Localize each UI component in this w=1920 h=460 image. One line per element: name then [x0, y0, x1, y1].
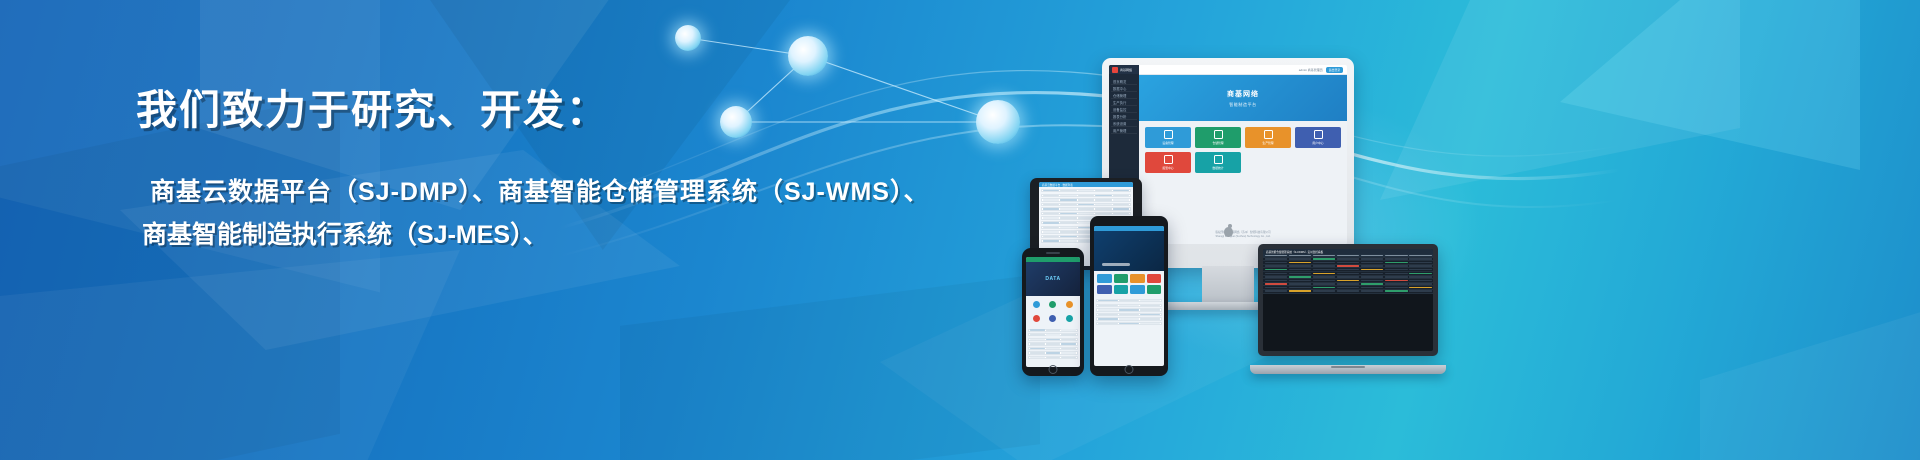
laptop-mockup: 商基智能仓储管理系统（SJ-WMS）· 实时监控看板: [1250, 244, 1446, 374]
tablet-portrait-list: [1094, 297, 1164, 327]
edit-icon: [1214, 155, 1223, 164]
logout-button[interactable]: 退出登录: [1326, 67, 1343, 73]
imac-logo: 商基网络: [1109, 65, 1139, 74]
list-item[interactable]: [1096, 313, 1162, 316]
imac-tile[interactable]: 用户中心: [1295, 127, 1341, 148]
imac-tile[interactable]: 生产管理: [1245, 127, 1291, 148]
sidebar-item-3[interactable]: 生产执行: [1111, 99, 1137, 106]
laptop-title: 商基智能仓储管理系统（SJ-WMS）· 实时监控看板: [1266, 250, 1323, 254]
imac-tile-grid: 设备管理 仓储管理 生产管理: [1139, 121, 1347, 179]
list-item[interactable]: [1028, 347, 1078, 350]
product-line-2: 商基智能制造执行系统（SJ-MES）、: [136, 214, 956, 257]
imac-tile-label: 仓储管理: [1212, 141, 1223, 145]
tablet-portrait-screen: [1094, 226, 1164, 366]
phone-hero-label: DATA: [1045, 276, 1060, 282]
laptop-table: [1263, 254, 1433, 351]
apple-logo-icon: [1224, 227, 1233, 237]
sidebar-item-0[interactable]: 首页概览: [1111, 78, 1137, 85]
phone-tile[interactable]: [1046, 313, 1060, 324]
user-icon: [1314, 130, 1323, 139]
phone-list: [1026, 327, 1080, 362]
table-row[interactable]: [1041, 203, 1131, 206]
tablet-tile[interactable]: [1114, 274, 1129, 283]
brand-name: 商基网络: [1120, 68, 1132, 72]
imac-tile[interactable]: 仓储管理: [1195, 127, 1241, 148]
page-title: 我们致力于研究、开发：: [136, 86, 956, 135]
tablet-tile[interactable]: [1114, 285, 1129, 294]
background-facet: [620, 274, 1040, 460]
list-item[interactable]: [1096, 299, 1162, 302]
account-label: admin 商基管理员: [1299, 68, 1323, 72]
sidebar-item-2[interactable]: 仓储管理: [1111, 92, 1137, 99]
imac-hero-title: 商基网络: [1227, 89, 1259, 99]
tablet-tile[interactable]: [1147, 274, 1162, 283]
imac-tile-label: 设备管理: [1162, 141, 1173, 145]
sidebar-item-5[interactable]: 报表分析: [1111, 113, 1137, 120]
laptop-base: [1250, 365, 1446, 374]
brand-mark-icon: [1112, 67, 1118, 73]
imac-tile[interactable]: 数据统计: [1195, 152, 1241, 173]
product-list: 商基云数据平台（SJ-DMP）、商基智能仓储管理系统（SJ-WMS）、 商基智能…: [136, 171, 956, 257]
tablet-tile[interactable]: [1130, 274, 1145, 283]
tablet-tile[interactable]: [1147, 285, 1162, 294]
monitor-icon: [1164, 130, 1173, 139]
hero-banner: 我们致力于研究、开发： 商基云数据平台（SJ-DMP）、商基智能仓储管理系统（S…: [0, 0, 1920, 460]
imac-hero: 商基网络 智能制造平台: [1139, 75, 1347, 121]
tablet-portrait-mockup: [1090, 216, 1168, 376]
list-item[interactable]: [1096, 317, 1162, 320]
hero-copy: 我们致力于研究、开发： 商基云数据平台（SJ-DMP）、商基智能仓储管理系统（S…: [136, 86, 956, 257]
phone-tile[interactable]: [1029, 299, 1043, 310]
tablet-tile[interactable]: [1097, 285, 1112, 294]
tablet-portrait-hero: [1094, 231, 1164, 271]
imac-tile[interactable]: 报警中心: [1145, 152, 1191, 173]
table-row[interactable]: [1041, 198, 1131, 201]
background-facet: [1560, 0, 1860, 170]
table-row[interactable]: [1041, 212, 1131, 215]
list-item[interactable]: [1028, 333, 1078, 336]
box-icon: [1264, 130, 1273, 139]
imac-tile[interactable]: 设备管理: [1145, 127, 1191, 148]
imac-topbar: admin 商基管理员 退出登录: [1139, 65, 1347, 75]
list-item[interactable]: [1028, 342, 1078, 345]
background-facet: [0, 250, 460, 460]
list-item[interactable]: [1028, 329, 1078, 332]
phone-tile[interactable]: [1063, 299, 1077, 310]
sidebar-item-6[interactable]: 系统设置: [1111, 120, 1137, 127]
laptop-screen: 商基智能仓储管理系统（SJ-WMS）· 实时监控看板: [1263, 249, 1433, 351]
chart-icon: [1214, 130, 1223, 139]
sidebar-item-7[interactable]: 用户管理: [1111, 127, 1137, 134]
list-item[interactable]: [1096, 322, 1162, 325]
phone-hero: DATA: [1026, 262, 1080, 296]
list-item[interactable]: [1096, 304, 1162, 307]
background-facet: [1700, 300, 1920, 460]
sidebar-item-4[interactable]: 设备监控: [1111, 106, 1137, 113]
imac-tile-label: 报警中心: [1162, 166, 1173, 170]
table-row[interactable]: [1263, 290, 1433, 294]
list-item[interactable]: [1028, 338, 1078, 341]
phone-tile[interactable]: [1063, 313, 1077, 324]
network-node: [675, 25, 701, 51]
list-item[interactable]: [1028, 351, 1078, 354]
tablet-tile[interactable]: [1097, 274, 1112, 283]
phone-tile-grid: [1026, 296, 1080, 327]
phone-tile[interactable]: [1029, 313, 1043, 324]
table-row[interactable]: [1041, 194, 1131, 197]
phone-screen: DATA: [1026, 257, 1080, 367]
laptop-lid: 商基智能仓储管理系统（SJ-WMS）· 实时监控看板: [1258, 244, 1438, 356]
table-row[interactable]: [1041, 207, 1131, 210]
network-node: [788, 36, 828, 76]
table-row[interactable]: [1041, 189, 1131, 192]
tablet-title: 商基云数据平台 · 数据列表: [1042, 183, 1073, 187]
imac-tile-label: 用户中心: [1312, 141, 1323, 145]
list-item[interactable]: [1028, 356, 1078, 359]
list-item[interactable]: [1096, 308, 1162, 311]
device-mockup-cluster: 商基网络 首页概览 数据中心 仓储管理 生产执行 设备监控 报表分析 系统设置 …: [1010, 48, 1530, 388]
imac-main: admin 商基管理员 退出登录 商基网络 智能制造平台 设备管理: [1139, 65, 1347, 244]
imac-tile-label: 生产管理: [1262, 141, 1273, 145]
imac-hero-subtitle: 智能制造平台: [1229, 102, 1257, 108]
tablet-portrait-tile-grid: [1094, 271, 1164, 297]
phone-mockup: DATA: [1022, 248, 1084, 376]
product-line-1: 商基云数据平台（SJ-DMP）、商基智能仓储管理系统（SJ-WMS）、: [136, 171, 956, 214]
phone-tile[interactable]: [1046, 299, 1060, 310]
imac-stand: [1202, 266, 1254, 304]
imac-tile-label: 数据统计: [1212, 166, 1223, 170]
tablet-tile[interactable]: [1130, 285, 1145, 294]
alert-icon: [1164, 155, 1173, 164]
sidebar-item-1[interactable]: 数据中心: [1111, 85, 1137, 92]
